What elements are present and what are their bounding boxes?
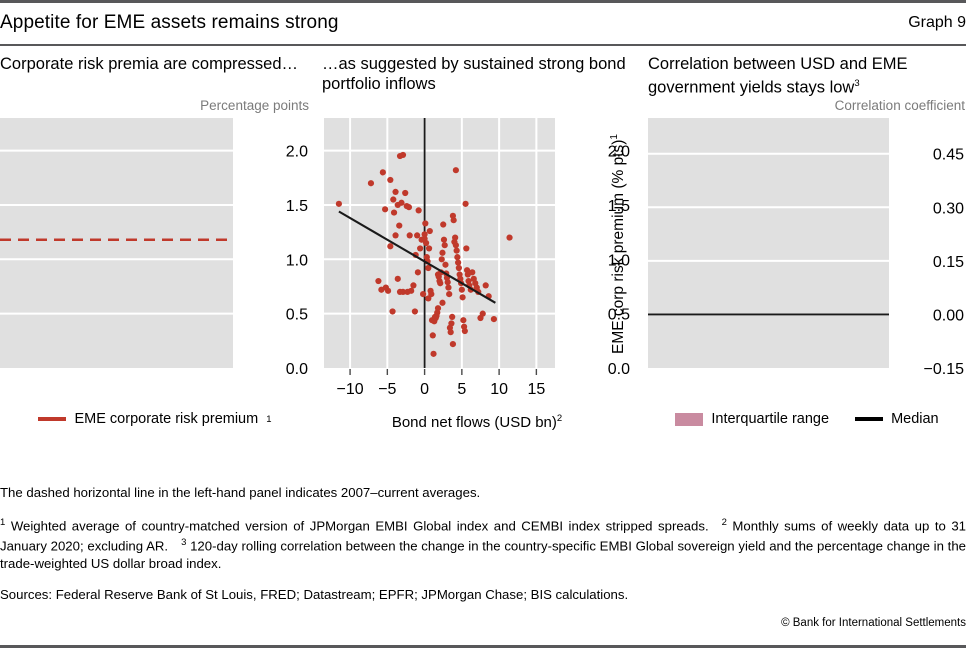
svg-text:−10: −10 (337, 381, 364, 398)
legend-item-interquartile-range: Interquartile range (675, 411, 829, 427)
svg-text:−5: −5 (378, 381, 396, 398)
legend-item-median: Median (855, 411, 939, 427)
y-axis-labels: −0.150.000.150.300.45 (924, 147, 965, 378)
footnote-1-marker: 1 (0, 517, 5, 528)
legend-label: EME corporate risk premium (74, 411, 258, 427)
plot-background (324, 118, 555, 368)
panel-right-legend: Interquartile range Median (648, 406, 966, 432)
svg-text:0.0: 0.0 (286, 361, 308, 378)
right-chart-svg: 101214161820−0.150.000.150.300.45 (648, 116, 966, 406)
svg-text:0: 0 (420, 381, 429, 398)
copyright-note: © Bank for International Settlements (0, 617, 966, 629)
svg-text:0.30: 0.30 (933, 200, 964, 217)
notes-section: The dashed horizontal line in the left-h… (0, 484, 966, 629)
yaxis-title-group: EME corp risk premium (% pts)1 (609, 134, 627, 354)
middle-chart-svg: −10−50510150.00.51.01.52.0EME corp risk … (322, 116, 632, 406)
svg-text:5: 5 (457, 381, 466, 398)
footnotes-block: 1 Weighted average of country-matched ve… (0, 514, 966, 573)
panel-middle-xaxis-title: Bond net flows (USD bn)2 (322, 406, 632, 432)
panel-middle-plot: −10−50510150.00.51.01.52.0EME corp risk … (322, 116, 632, 406)
line-swatch-icon (855, 417, 883, 421)
svg-text:1.0: 1.0 (286, 252, 308, 269)
panel-right-subtitle: Correlation between USD and EME governme… (648, 54, 966, 96)
line-swatch-icon (38, 417, 66, 421)
footer-rule (0, 645, 966, 648)
left-chart-svg: 1012141618200.00.51.01.52.0 (0, 116, 310, 406)
x-axis-ticks (350, 369, 536, 375)
graph-number: Graph 9 (908, 14, 966, 32)
panel-left: Corporate risk premia are compressed… Pe… (0, 54, 310, 474)
legend-label: Interquartile range (711, 411, 829, 427)
panel-middle-unit-label (322, 96, 632, 116)
svg-text:2.0: 2.0 (286, 144, 308, 161)
panel-left-unit-label: Percentage points (0, 96, 310, 116)
header-bottom-rule (0, 44, 966, 46)
panel-left-legend: EME corporate risk premium1 (0, 406, 310, 432)
svg-text:0.45: 0.45 (933, 147, 964, 164)
panel-middle: …as suggested by sustained strong bond p… (322, 54, 632, 474)
svg-text:−0.15: −0.15 (924, 361, 965, 378)
svg-text:0.5: 0.5 (286, 307, 308, 324)
panel-right-plot: 101214161820−0.150.000.150.300.45 (648, 116, 966, 406)
plot-background (0, 118, 233, 368)
page-title: Appetite for EME assets remains strong (0, 12, 339, 34)
svg-text:0.15: 0.15 (933, 254, 964, 271)
legend-label: Median (891, 411, 939, 427)
panel-left-plot: 1012141618200.00.51.01.52.0 (0, 116, 310, 406)
y-axis-labels: 0.00.51.01.52.0 (286, 144, 308, 378)
svg-text:15: 15 (527, 381, 545, 398)
x-axis-labels: −10−5051015 (337, 381, 546, 398)
svg-text:10: 10 (490, 381, 508, 398)
footnote-1-text: Weighted average of country-matched vers… (11, 518, 709, 533)
plot-background (648, 118, 889, 368)
xaxis-footnote-marker: 2 (557, 413, 562, 424)
panel-middle-subtitle: …as suggested by sustained strong bond p… (322, 54, 632, 96)
footnote-2-marker: 2 (722, 517, 727, 528)
footnote-3-marker: 3 (181, 537, 186, 548)
sources-note: Sources: Federal Reserve Bank of St Loui… (0, 586, 966, 604)
panel-right-subtitle-footnote-marker: 3 (854, 78, 859, 89)
legend-item-eme-corporate-risk-premium: EME corporate risk premium1 (38, 411, 271, 427)
svg-text:0.0: 0.0 (608, 361, 630, 378)
graph-header: Appetite for EME assets remains strong G… (0, 3, 966, 43)
dashed-line-note: The dashed horizontal line in the left-h… (0, 484, 966, 502)
svg-text:0.00: 0.00 (933, 307, 964, 324)
svg-text:1.5: 1.5 (286, 198, 308, 215)
yaxis-title-text: EME corp risk premium (% pts)1 (609, 134, 627, 354)
panel-left-subtitle: Corporate risk premia are compressed… (0, 54, 310, 96)
panel-right: Correlation between USD and EME governme… (648, 54, 966, 474)
panels-container: Corporate risk premia are compressed… Pe… (0, 54, 966, 474)
panel-right-subtitle-text: Correlation between USD and EME governme… (648, 55, 908, 97)
xaxis-title-text: Bond net flows (USD bn) (392, 414, 557, 431)
legend-footnote-marker: 1 (266, 414, 271, 425)
box-swatch-icon (675, 413, 703, 426)
panel-right-unit-label: Correlation coefficient (648, 96, 966, 116)
